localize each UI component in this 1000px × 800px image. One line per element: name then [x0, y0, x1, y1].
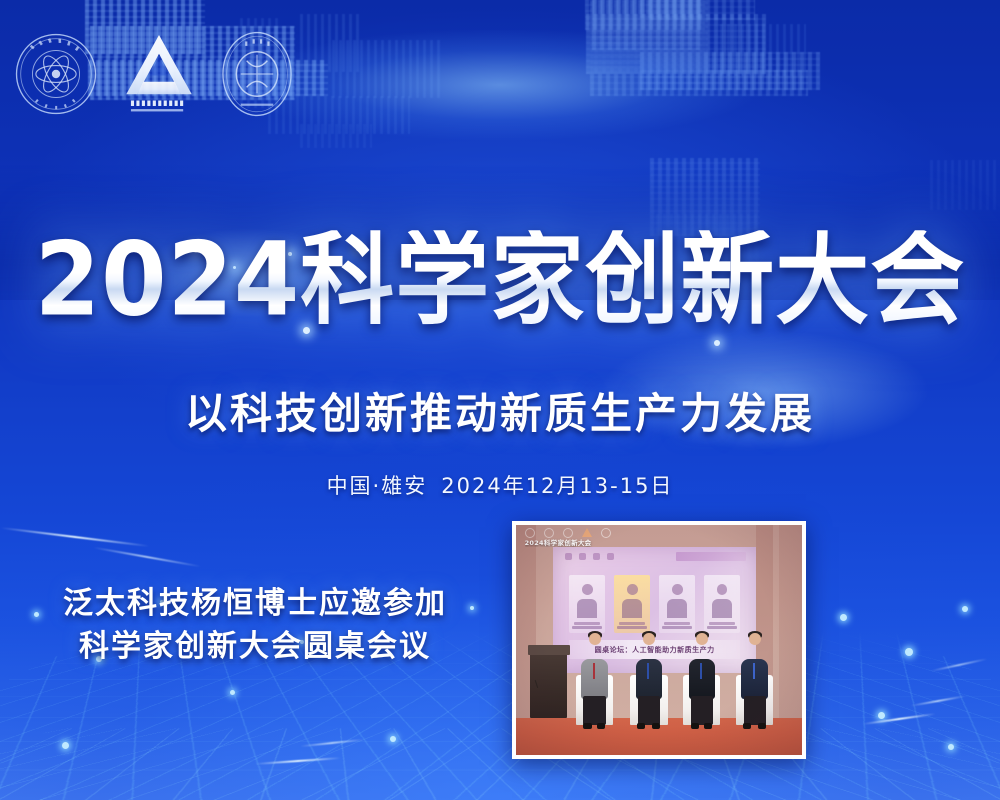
mesh-node [878, 712, 885, 719]
organizer-logos [14, 28, 294, 120]
light-streak [910, 695, 965, 707]
subtitle: 以科技创新推动新质生产力发展 [0, 380, 1000, 441]
mesh-node [62, 742, 69, 749]
main-title: 2024科学家创新大会 [35, 230, 966, 332]
light-streak [93, 546, 202, 567]
main-title-wrap: 2024科学家创新大会 [0, 234, 1000, 328]
spark-particle [714, 340, 720, 346]
caption-line-2: 科学家创新大会圆桌会议 [0, 626, 510, 669]
circular-seal-logo [14, 32, 98, 116]
photo-vignette [516, 525, 802, 755]
light-streak [930, 658, 987, 672]
mesh-node [230, 690, 235, 695]
location-text: 中国·雄安 [327, 474, 428, 498]
caption-line-1: 泛太科技杨恒博士应邀参加 [0, 583, 510, 626]
event-photo-frame: 圆桌论坛：人工智能助力新质生产力 2024科学家创新大会 [512, 521, 806, 759]
oval-seal-logo [220, 28, 294, 120]
event-photo: 圆桌论坛：人工智能助力新质生产力 2024科学家创新大会 [516, 525, 802, 755]
mesh-node [962, 606, 968, 612]
date-text: 2024年12月13-15日 [441, 474, 673, 498]
mesh-node [390, 736, 396, 742]
light-streak [0, 527, 149, 547]
conference-poster: 2024科学家创新大会 以科技创新推动新质生产力发展 中国·雄安2024年12月… [0, 0, 1000, 800]
mesh-node [840, 614, 847, 621]
mesh-node [905, 648, 913, 656]
event-caption: 泛太科技杨恒博士应邀参加 科学家创新大会圆桌会议 [0, 583, 510, 668]
mesh-node [948, 744, 954, 750]
triangle-a-logo [120, 30, 198, 118]
date-location-line: 中国·雄安2024年12月13-15日 [0, 470, 1000, 500]
